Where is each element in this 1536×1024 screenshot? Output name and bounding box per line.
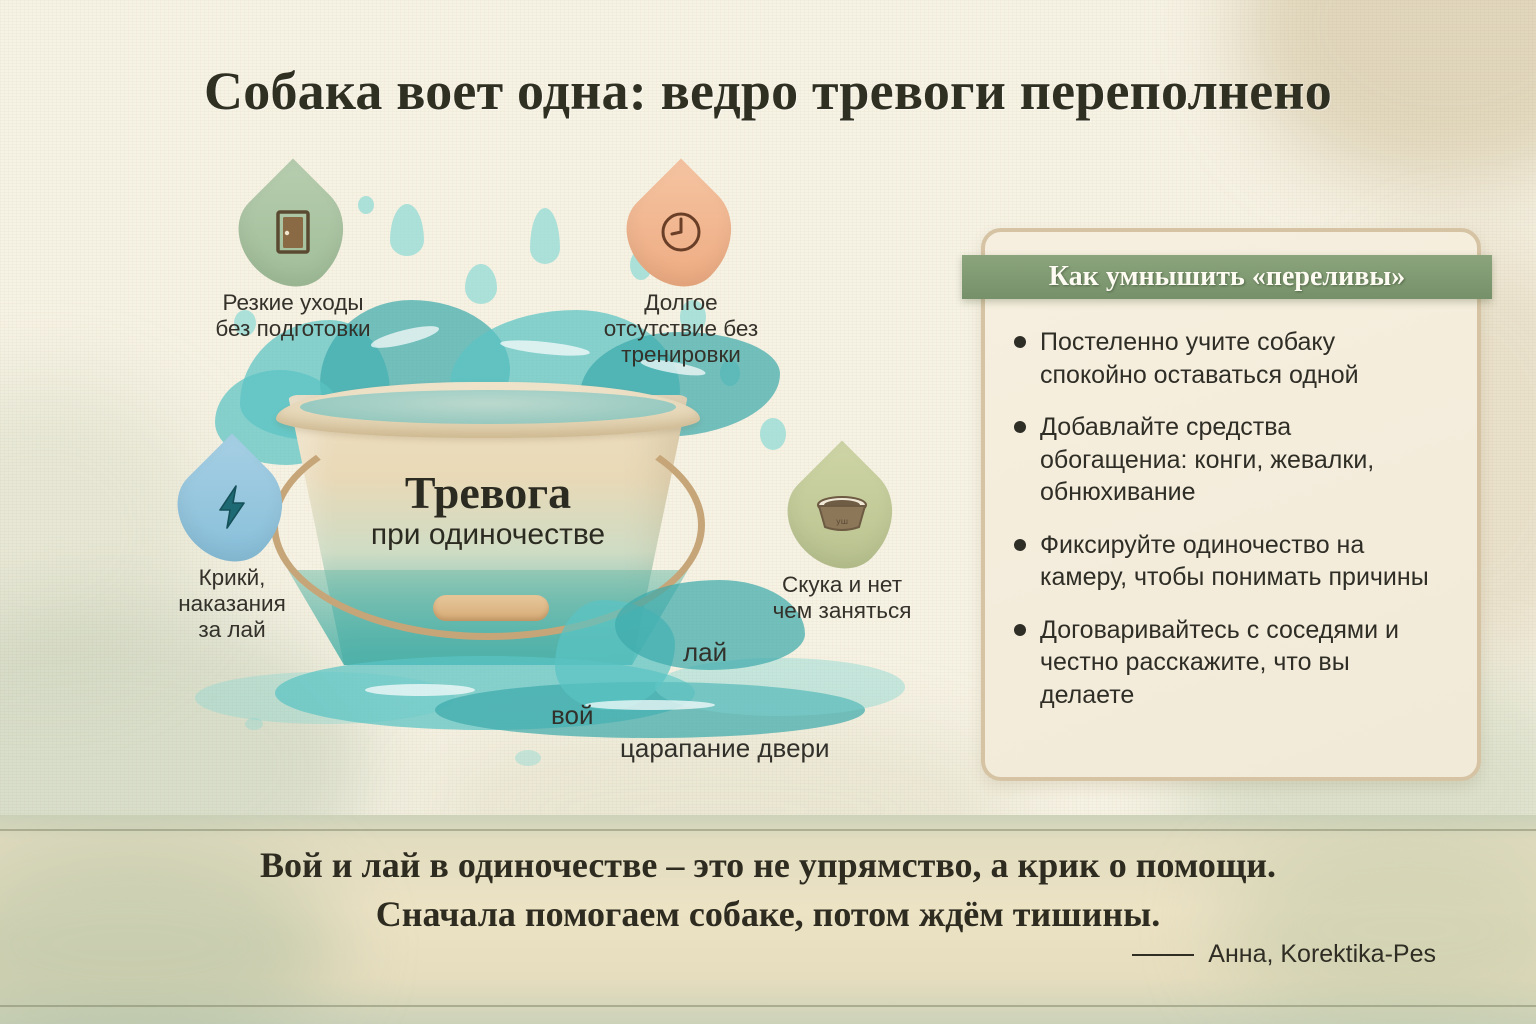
page-title: Собака воет одна: ведро тревоги переполн…: [0, 60, 1536, 122]
trigger-item-door[interactable]: Резкие уходы без подготовки: [178, 180, 408, 342]
trigger-droplet-shape: [607, 158, 754, 305]
bullet-icon: [1014, 624, 1026, 636]
puddle-droplet: [245, 718, 263, 730]
tips-card-banner: Как умнышить «переливы»: [962, 255, 1492, 299]
lightning-icon: [215, 484, 249, 530]
footer-quote-line-1: Вой и лай в одиночестве – это не упрямст…: [0, 841, 1536, 890]
bucket-rim-water: [300, 390, 676, 424]
trigger-droplet-shape: уш: [768, 440, 915, 587]
attribution-text: Анна, Korektika-Pes: [1208, 940, 1436, 969]
tip-text: Фиксируйте одиночество на камеру, чтобы …: [1040, 529, 1444, 594]
trigger-label: Крикй, наказания за лай: [117, 565, 347, 643]
tips-card-title: Как умнышить «переливы»: [1049, 261, 1405, 293]
tip-text: Договаривайтесь с соседями и честно расс…: [1040, 614, 1444, 712]
splash-droplet: [760, 418, 786, 450]
attribution-dash: [1132, 954, 1194, 956]
bucket-label-main: Тревога: [288, 470, 688, 516]
bucket-label: Тревога при одиночестве: [288, 470, 688, 550]
list-item[interactable]: Добавлайте средства обогащениа: конги, ж…: [1014, 411, 1444, 509]
tip-text: Добавлайте средства обогащениа: конги, ж…: [1040, 411, 1444, 509]
bullet-icon: [1014, 421, 1026, 433]
spill-label-lay: лай: [683, 637, 727, 668]
splash-droplet: [530, 208, 560, 264]
tip-text: Постеленно учите собаку спокойно остават…: [1040, 326, 1444, 391]
footer-quote: Вой и лай в одиночестве – это не упрямст…: [0, 841, 1536, 938]
bullet-icon: [1014, 336, 1026, 348]
door-icon: [274, 209, 312, 255]
puddle-highlight: [365, 684, 475, 696]
trigger-label: Долгое отсутствие без тренировки: [566, 290, 796, 368]
dog-bowl-icon: уш: [813, 494, 871, 534]
puddle-highlight: [585, 700, 715, 710]
trigger-item-boredom[interactable]: уш Скука и нет чем заняться: [727, 462, 957, 624]
attribution: Анна, Korektika-Pes: [1132, 940, 1436, 969]
trigger-label: Резкие уходы без подготовки: [178, 290, 408, 342]
footer-rule-bottom: [0, 1005, 1536, 1007]
footer-band: Вой и лай в одиночестве – это не упрямст…: [0, 815, 1536, 1024]
trigger-droplet-shape: [219, 158, 366, 305]
list-item[interactable]: Фиксируйте одиночество на камеру, чтобы …: [1014, 529, 1444, 594]
spill-label-voy: вой: [551, 700, 594, 731]
tips-list: Постеленно учите собаку спокойно остават…: [1014, 326, 1444, 731]
trigger-droplet-shape: [158, 433, 305, 580]
list-item[interactable]: Договаривайтесь с соседями и честно расс…: [1014, 614, 1444, 712]
clock-icon: [658, 209, 704, 255]
puddle-droplet: [515, 750, 541, 766]
footer-rule-top: [0, 829, 1536, 831]
bullet-icon: [1014, 539, 1026, 551]
list-item[interactable]: Постеленно учите собаку спокойно остават…: [1014, 326, 1444, 391]
svg-text:уш: уш: [836, 517, 848, 526]
trigger-label: Скука и нет чем заняться: [727, 572, 957, 624]
trigger-item-clock[interactable]: Долгое отсутствие без тренировки: [566, 180, 796, 368]
footer-quote-line-2: Сначала помогаем собаке, потом ждём тиши…: [0, 890, 1536, 939]
splash-droplet: [465, 264, 497, 304]
bucket-label-sub: при одиночестве: [288, 520, 688, 550]
spill-label-scratching: царапание двери: [620, 733, 830, 764]
